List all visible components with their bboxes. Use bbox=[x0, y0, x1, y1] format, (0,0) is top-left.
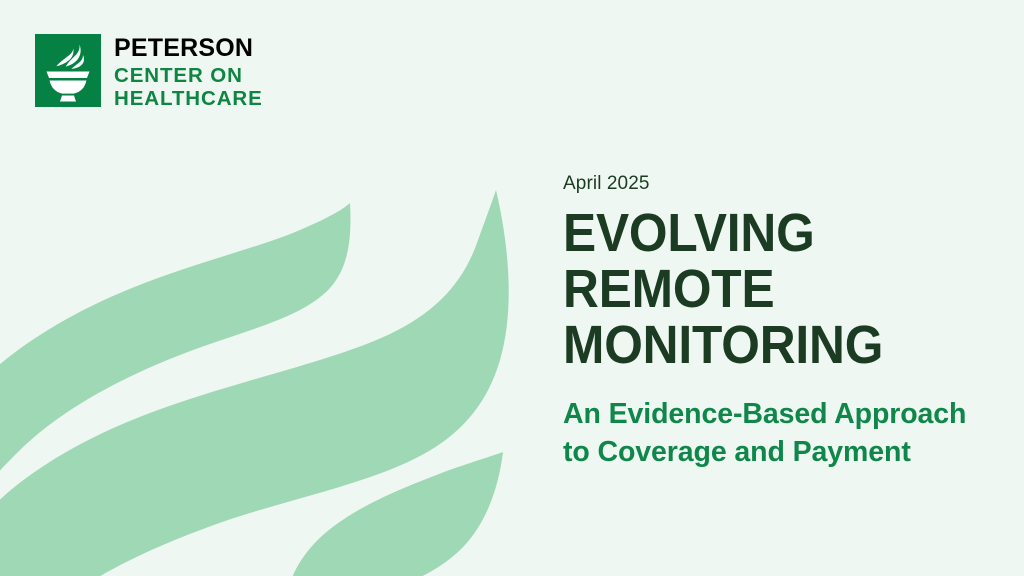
page-title: EVOLVING REMOTE MONITORING bbox=[563, 205, 959, 373]
logo-wordmark-line-peterson: PETERSON bbox=[114, 35, 263, 62]
title-slide: PETERSON CENTER ON HEALTHCARE April 2025… bbox=[0, 0, 1024, 576]
page-subtitle: An Evidence-Based Approach to Coverage a… bbox=[563, 395, 993, 471]
logo-wordmark-line-center-on: CENTER ON bbox=[114, 65, 263, 87]
logo-wordmark: PETERSON CENTER ON HEALTHCARE bbox=[114, 34, 263, 110]
logo-lockup[interactable]: PETERSON CENTER ON HEALTHCARE bbox=[35, 34, 263, 110]
cover-text-block: April 2025 EVOLVING REMOTE MONITORING An… bbox=[563, 173, 993, 472]
flame-swoosh-lower bbox=[288, 452, 503, 576]
mortar-and-flame-icon bbox=[35, 34, 101, 107]
flame-swoosh-middle bbox=[0, 190, 509, 576]
flame-swoosh-upper bbox=[0, 203, 350, 492]
publication-date: April 2025 bbox=[563, 173, 993, 196]
logo-wordmark-line-healthcare: HEALTHCARE bbox=[114, 88, 263, 110]
